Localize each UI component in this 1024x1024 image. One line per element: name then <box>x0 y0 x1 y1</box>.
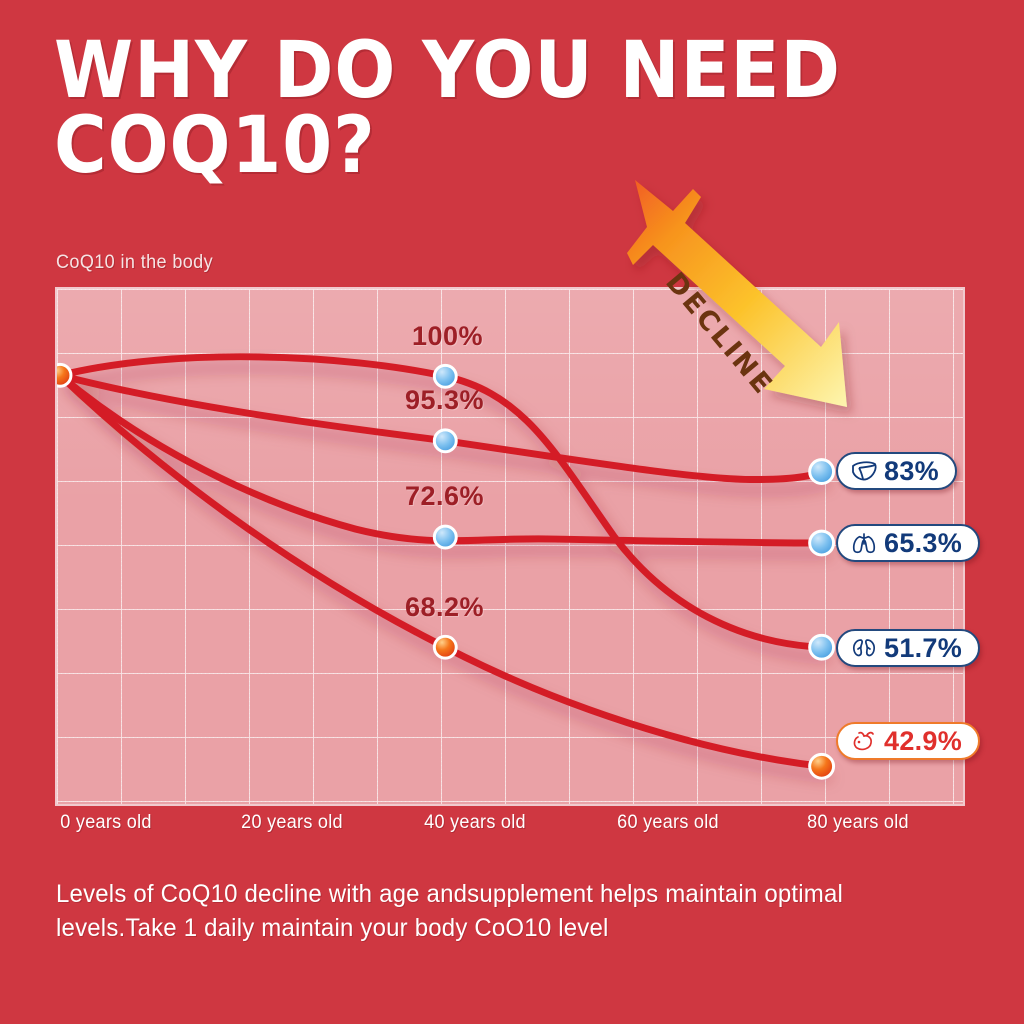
heart-icon <box>850 729 878 753</box>
value-label-kidneys: 100% <box>412 321 483 352</box>
value-label-heart: 68.2% <box>405 592 484 623</box>
chart-subtitle: CoQ10 in the body <box>56 252 213 274</box>
callout-kidneys-value: 51.7% <box>884 633 962 664</box>
marker-end-heart <box>810 754 834 778</box>
callout-lungs-value: 65.3% <box>884 528 962 559</box>
footer-caption: Levels of CoQ10 decline with age andsupp… <box>56 878 939 945</box>
marker-mid-liver <box>434 430 456 452</box>
x-tick-80: 80 years old <box>807 812 909 834</box>
chart-lines-svg <box>57 289 963 804</box>
x-axis: 0 years old 20 years old 40 years old 60… <box>55 812 965 846</box>
x-tick-0: 0 years old <box>60 812 151 834</box>
infographic-root: WHY DO YOU NEED COQ10? CoQ10 in the body <box>0 0 1024 1024</box>
chart-plot-area: 100% 95.3% 72.6% 68.2% <box>55 287 965 806</box>
kidneys-icon <box>850 636 878 660</box>
value-label-liver: 95.3% <box>405 385 484 416</box>
x-tick-20: 20 years old <box>241 812 343 834</box>
x-tick-60: 60 years old <box>617 812 719 834</box>
liver-icon <box>850 459 878 483</box>
marker-end-liver <box>810 460 834 484</box>
callout-heart-value: 42.9% <box>884 726 962 757</box>
callout-heart[interactable]: 42.9% <box>836 722 980 760</box>
callout-lungs[interactable]: 65.3% <box>836 524 980 562</box>
callout-kidneys[interactable]: 51.7% <box>836 629 980 667</box>
value-label-lungs: 72.6% <box>405 481 484 512</box>
marker-mid-kidneys <box>434 365 456 387</box>
marker-end-kidneys <box>810 635 834 659</box>
callout-liver-value: 83% <box>884 456 939 487</box>
callout-liver[interactable]: 83% <box>836 452 957 490</box>
x-tick-40: 40 years old <box>424 812 526 834</box>
page-title: WHY DO YOU NEED COQ10? <box>54 34 910 184</box>
origin-marker <box>57 364 71 386</box>
title-line-2: COQ10? <box>54 109 910 184</box>
marker-end-lungs <box>810 531 834 555</box>
marker-mid-lungs <box>434 526 456 548</box>
lungs-icon <box>850 531 878 555</box>
marker-mid-heart <box>434 636 456 658</box>
